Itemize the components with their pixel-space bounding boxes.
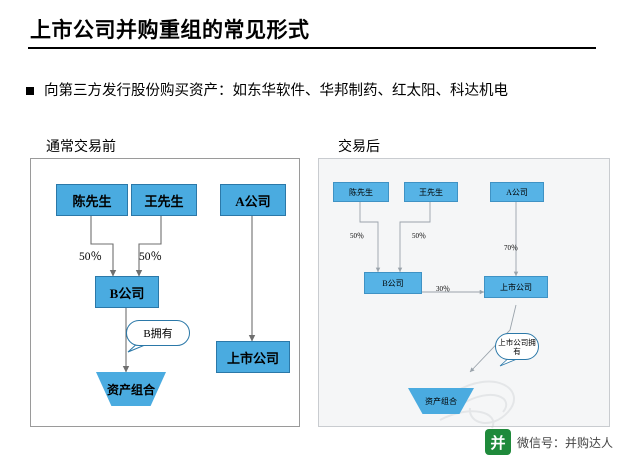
node-listed-before[interactable]: 上市公司 — [216, 341, 290, 373]
edge-label-wang-50: 50％ — [139, 248, 162, 264]
watermark-logo-icon: 并 — [485, 429, 511, 455]
node-wang-before[interactable]: 王先生 — [131, 184, 197, 216]
node-company-a-after[interactable]: A公司 — [490, 182, 544, 202]
bullet-text: 向第三方发行股份购买资产：如东华软件、华邦制药、红太阳、科达机电 — [44, 80, 604, 102]
watermark-text: 微信号：并购达人 — [517, 434, 613, 451]
node-company-b-after[interactable]: B公司 — [364, 272, 422, 294]
edge-label-after-companyb-30: 30％ — [436, 284, 450, 294]
edge-label-chen-50: 50％ — [79, 248, 102, 264]
bullet-marker-icon — [26, 87, 34, 95]
caption-before: 通常交易前 — [46, 136, 116, 156]
node-chen-before[interactable]: 陈先生 — [56, 184, 128, 216]
caption-after: 交易后 — [338, 136, 380, 156]
slide-canvas: 上市公司并购重组的常见形式 向第三方发行股份购买资产：如东华软件、华邦制药、红太… — [0, 0, 625, 463]
bubble-b-owns: B拥有 — [126, 320, 190, 346]
edge-label-after-chen-50: 50％ — [350, 231, 364, 241]
node-listed-after[interactable]: 上市公司 — [484, 276, 548, 298]
node-chen-after[interactable]: 陈先生 — [333, 182, 389, 202]
page-title: 上市公司并购重组的常见形式 — [30, 14, 310, 44]
title-divider — [28, 47, 596, 49]
edge-label-after-wang-50: 50％ — [412, 231, 426, 241]
bubble-listed-owns: 上市公司拥有 — [495, 333, 539, 360]
node-company-b-before[interactable]: B公司 — [95, 276, 159, 308]
node-wang-after[interactable]: 王先生 — [404, 182, 458, 202]
edge-label-after-companya-70: 70％ — [504, 243, 518, 253]
watermark: 并 微信号：并购达人 — [485, 429, 613, 455]
node-company-a-before[interactable]: A公司 — [220, 184, 286, 216]
